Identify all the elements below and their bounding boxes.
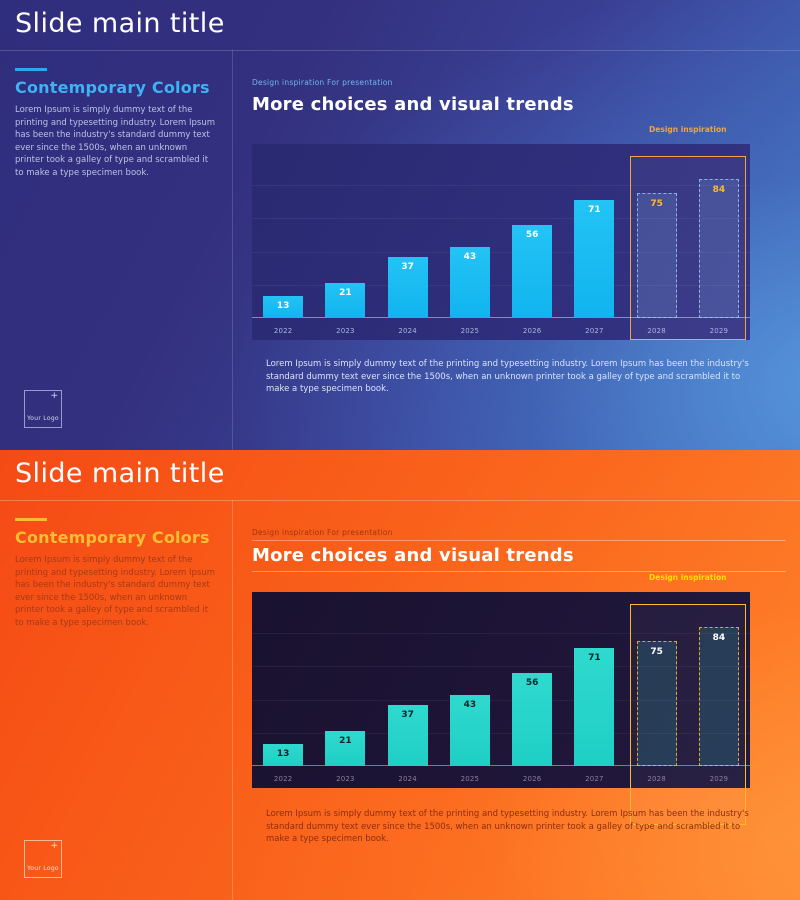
- chart-bar-value: 84: [700, 633, 738, 643]
- highlight-annotation: Design inspiration: [630, 573, 747, 582]
- chart-bar-value: 71: [574, 205, 614, 215]
- chart-x-label: 2027: [563, 327, 625, 335]
- chart-bar: 43: [450, 695, 490, 766]
- chart-bar-value: 56: [512, 678, 552, 688]
- chart-bar: 21: [325, 731, 365, 766]
- bar-chart: Design inspiration1320222120233720244320…: [252, 144, 750, 340]
- chart-x-label: 2022: [252, 327, 314, 335]
- chart-bar: 84: [699, 179, 739, 318]
- chart-bar-value: 75: [638, 647, 676, 657]
- logo-label: Your Logo: [25, 415, 61, 422]
- slide-header: Slide main title: [0, 0, 800, 50]
- logo-label: Your Logo: [25, 865, 61, 872]
- section-heading: Contemporary Colors: [15, 528, 215, 547]
- logo-placeholder[interactable]: + Your Logo: [24, 840, 62, 878]
- right-column: Design inspiration For presentation More…: [252, 528, 786, 572]
- chart-x-label: 2026: [501, 775, 563, 783]
- chart-bar-value: 56: [512, 230, 552, 240]
- section-body-text: Lorem Ipsum is simply dummy text of the …: [15, 554, 215, 629]
- plus-icon: +: [50, 842, 58, 851]
- footer-paragraph: Lorem Ipsum is simply dummy text of the …: [266, 808, 756, 846]
- chart-x-label: 2026: [501, 327, 563, 335]
- chart-x-label: 2029: [688, 775, 750, 783]
- presentation-page: Slide main title Contemporary Colors Lor…: [0, 0, 800, 900]
- section-body-text: Lorem Ipsum is simply dummy text of the …: [15, 104, 215, 179]
- chart-bar: 37: [388, 257, 428, 318]
- section-heading: Contemporary Colors: [15, 78, 215, 97]
- chart-plot-area: Design inspiration1320222120233720244320…: [252, 144, 750, 340]
- chart-bar: 37: [388, 705, 428, 766]
- eyebrow-text: Design inspiration For presentation: [252, 78, 786, 87]
- chart-bar-value: 43: [450, 700, 490, 710]
- left-column: Contemporary Colors Lorem Ipsum is simpl…: [15, 68, 215, 179]
- chart-bar-value: 13: [263, 301, 303, 311]
- logo-placeholder[interactable]: + Your Logo: [24, 390, 62, 428]
- highlight-annotation: Design inspiration: [630, 125, 747, 134]
- bar-chart: Design inspiration1320222120233720244320…: [252, 592, 750, 788]
- chart-bar: 21: [325, 283, 365, 318]
- slide-blue: Slide main title Contemporary Colors Lor…: [0, 0, 800, 450]
- chart-x-label: 2028: [626, 775, 688, 783]
- chart-x-label: 2024: [377, 775, 439, 783]
- chart-bar: 13: [263, 296, 303, 318]
- left-column: Contemporary Colors Lorem Ipsum is simpl…: [15, 518, 215, 629]
- right-column: Design inspiration For presentation More…: [252, 78, 786, 120]
- header-divider: [0, 500, 800, 501]
- content-title: More choices and visual trends: [252, 90, 786, 120]
- chart-bar: 84: [699, 627, 739, 766]
- content-title: More choices and visual trends: [252, 540, 786, 572]
- chart-x-label: 2023: [314, 327, 376, 335]
- chart-plot-area: Design inspiration1320222120233720244320…: [252, 592, 750, 788]
- chart-bar-value: 21: [325, 288, 365, 298]
- chart-bar: 71: [574, 200, 614, 318]
- chart-bar-value: 21: [325, 736, 365, 746]
- chart-x-label: 2023: [314, 775, 376, 783]
- accent-bar: [15, 518, 47, 521]
- chart-x-label: 2024: [377, 327, 439, 335]
- chart-bar: 56: [512, 673, 552, 766]
- chart-x-label: 2027: [563, 775, 625, 783]
- header-divider: [0, 50, 800, 51]
- chart-bar: 43: [450, 247, 490, 318]
- column-divider: [232, 50, 233, 450]
- eyebrow-text: Design inspiration For presentation: [252, 528, 786, 537]
- chart-bar-value: 43: [450, 252, 490, 262]
- chart-bar-value: 75: [638, 199, 676, 209]
- chart-bar: 75: [637, 641, 677, 766]
- chart-bar-value: 37: [388, 710, 428, 720]
- chart-bar-value: 84: [700, 185, 738, 195]
- plus-icon: +: [50, 392, 58, 401]
- slide-header: Slide main title: [0, 450, 800, 500]
- chart-bar: 71: [574, 648, 614, 766]
- chart-bar-value: 71: [574, 653, 614, 663]
- chart-bar: 75: [637, 193, 677, 318]
- chart-bar: 13: [263, 744, 303, 766]
- column-divider: [232, 500, 233, 900]
- chart-bar: 56: [512, 225, 552, 318]
- chart-x-label: 2028: [626, 327, 688, 335]
- footer-paragraph: Lorem Ipsum is simply dummy text of the …: [266, 358, 756, 396]
- page-title: Slide main title: [15, 458, 225, 489]
- chart-x-label: 2022: [252, 775, 314, 783]
- chart-x-label: 2025: [439, 327, 501, 335]
- chart-bar-value: 37: [388, 262, 428, 272]
- chart-x-label: 2029: [688, 327, 750, 335]
- chart-bar-value: 13: [263, 749, 303, 759]
- accent-bar: [15, 68, 47, 71]
- slide-orange: Slide main title Contemporary Colors Lor…: [0, 450, 800, 900]
- page-title: Slide main title: [15, 8, 225, 39]
- chart-x-label: 2025: [439, 775, 501, 783]
